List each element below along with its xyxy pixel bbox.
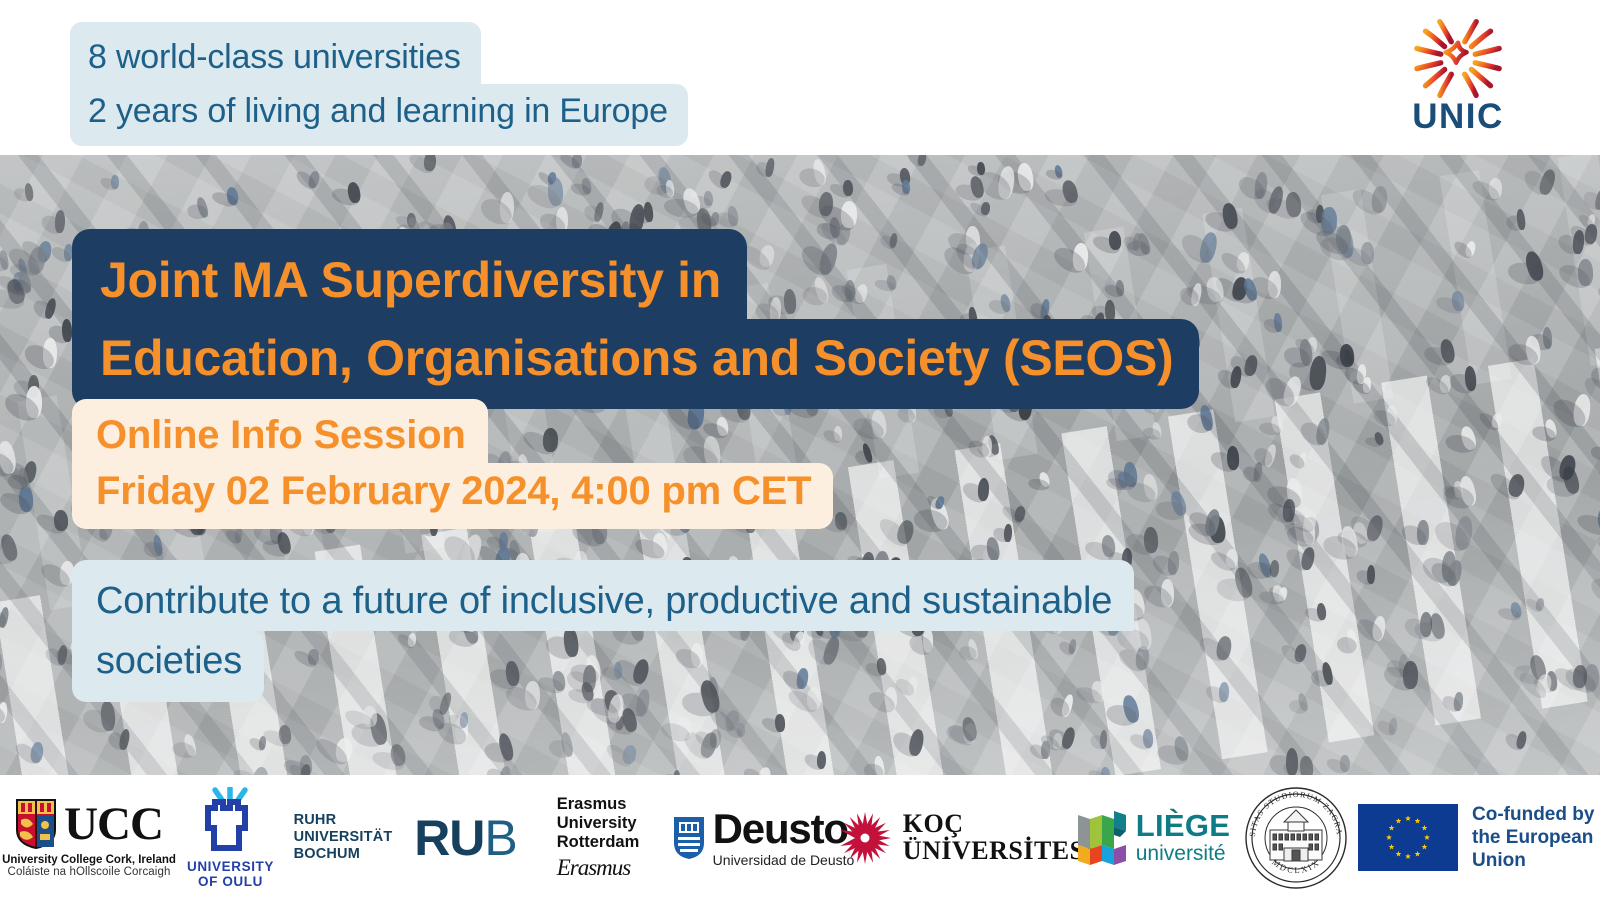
info-session-block: Online Info Session Friday 02 February 2… <box>72 399 833 529</box>
ucc-letters: UCC <box>64 801 163 847</box>
rub-text-line-2: UNIVERSITÄT <box>294 829 393 846</box>
unic-logo: UNIC <box>1394 14 1522 142</box>
rub-text-line-1: RUHR <box>294 812 337 829</box>
rub-text-line-3: BOCHUM <box>294 846 360 863</box>
tagline-block: Contribute to a future of inclusive, pro… <box>72 560 1134 702</box>
logo-european-union: Co-funded by the European Union <box>1358 775 1598 900</box>
program-title-line-2: Education, Organisations and Society (SE… <box>72 319 1199 409</box>
ucc-crest-icon <box>15 798 57 850</box>
logo-koc-universitesi: KOÇ ÜNİVERSİTESİ <box>858 775 1073 900</box>
unic-wordmark: UNIC <box>1412 100 1504 134</box>
info-session-line-2: Friday 02 February 2024, 4:00 pm CET <box>72 463 833 529</box>
oulu-wordmark-line-1: UNIVERSITY <box>187 859 274 874</box>
deusto-shield-icon <box>672 815 706 861</box>
eu-funding-line-2: the European Union <box>1472 826 1598 872</box>
kicker-line-1: 8 world-class universities <box>70 22 481 84</box>
logo-ucc: UCC University College Cork, Ireland Col… <box>0 775 178 900</box>
koc-fan-icon <box>836 809 894 867</box>
logo-erasmus-university-rotterdam: Erasmus University Rotterdam Erasmus <box>528 775 668 900</box>
program-title-line-1: Joint MA Superdiversity in <box>72 229 747 319</box>
rub-mark-thin: B <box>484 810 516 866</box>
ucc-name-ga: Coláiste na hOllscoile Corcaigh <box>8 866 171 878</box>
zagreb-seal-icon: UNIVERSITAS STUDIORUM ZAGRABIENSIS MDCLX… <box>1244 786 1348 890</box>
tagline-line-1: Contribute to a future of inclusive, pro… <box>72 560 1134 631</box>
partner-logo-bar: UCC University College Cork, Ireland Col… <box>0 775 1600 900</box>
deusto-subtitle: Universidad de Deusto <box>713 852 855 868</box>
ucc-name-en: University College Cork, Ireland <box>2 854 176 866</box>
unic-sunburst-icon <box>1410 14 1506 102</box>
logo-university-of-oulu: UNIVERSITY OF OULU <box>178 775 283 900</box>
program-title-block: Joint MA Superdiversity in Education, Or… <box>72 229 1199 409</box>
kicker-line-2: 2 years of living and learning in Europe <box>70 84 688 146</box>
info-session-line-1: Online Info Session <box>72 399 488 463</box>
koc-line-1: KOÇ <box>903 810 964 837</box>
erasmus-signature: Erasmus <box>557 855 631 881</box>
erasmus-line-3: Rotterdam <box>557 833 640 852</box>
logo-university-of-zagreb: UNIVERSITAS STUDIORUM ZAGRABIENSIS MDCLX… <box>1233 775 1358 900</box>
deusto-wordmark: Deusto <box>713 808 848 850</box>
liege-line-2: université <box>1136 842 1226 865</box>
koc-line-2: ÜNİVERSİTESİ <box>903 837 1095 865</box>
liege-line-1: LIÈGE <box>1136 810 1231 842</box>
page-header: 8 world-class universities 2 years of li… <box>0 0 1600 155</box>
oulu-tower-icon <box>191 787 269 855</box>
logo-deusto: Deusto Universidad de Deusto <box>668 775 858 900</box>
erasmus-line-2: University <box>557 814 637 833</box>
hero-stage: Joint MA Superdiversity in Education, Or… <box>0 155 1600 775</box>
liege-mosaic-icon <box>1076 809 1128 867</box>
logo-liege-universite: LIÈGE université <box>1073 775 1233 900</box>
rub-mark-bold: RU <box>414 810 484 866</box>
kicker-banner: 8 world-class universities 2 years of li… <box>70 22 688 146</box>
logo-ruhr-universitaet-bochum-text: RUHR UNIVERSITÄT BOCHUM <box>283 775 403 900</box>
erasmus-line-1: Erasmus <box>557 795 627 814</box>
logo-rub-mark: RUB <box>403 775 528 900</box>
tagline-line-2: societies <box>72 631 264 702</box>
eu-funding-line-1: Co-funded by <box>1472 803 1594 826</box>
oulu-wordmark-line-2: OF OULU <box>198 874 263 889</box>
eu-flag-icon <box>1358 804 1458 871</box>
